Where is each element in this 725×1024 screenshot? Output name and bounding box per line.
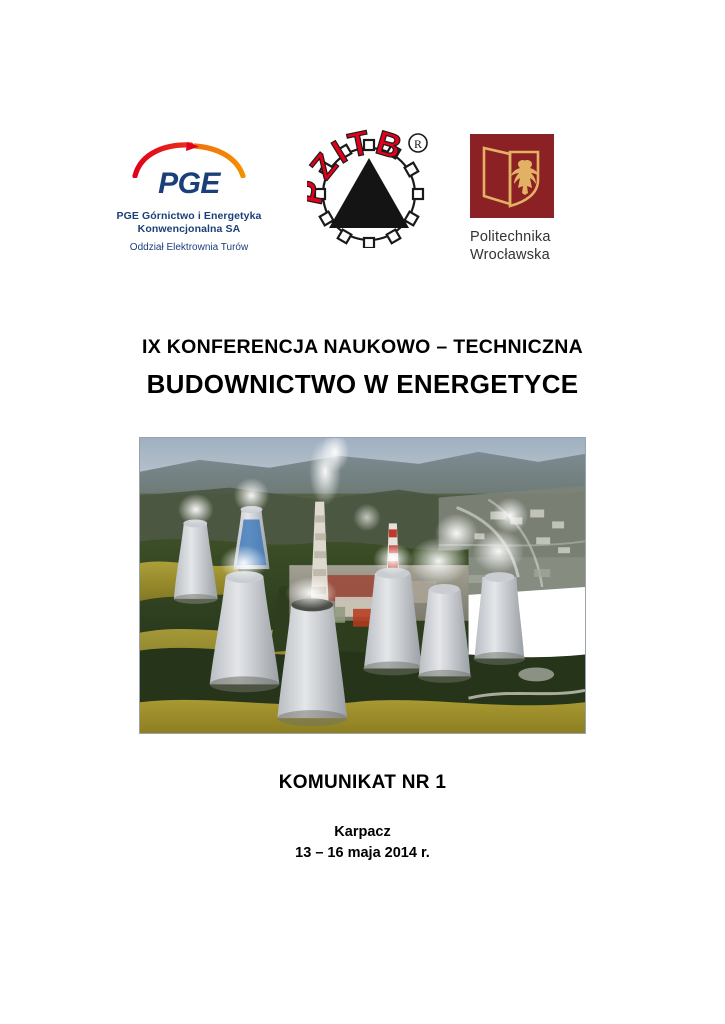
pwr-emblem-icon xyxy=(470,134,554,218)
conference-subtitle: IX KONFERENCJA NAUKOWO – TECHNICZNA xyxy=(0,336,725,359)
pge-caption-line1: PGE Górnictwo i Energetyka xyxy=(96,210,282,223)
logo-politechnika-wroclawska: Politechnika Wrocławska xyxy=(470,134,620,264)
logo-band: PGE PGE Górnictwo i Energetyka Konwencjo… xyxy=(0,128,725,278)
power-plant-photo xyxy=(139,437,586,734)
svg-text:R: R xyxy=(414,137,422,151)
pzitb-emblem-icon: PZITB R xyxy=(307,128,439,248)
pge-mark: PGE xyxy=(129,142,249,204)
pwr-name: Politechnika Wrocławska xyxy=(470,228,620,264)
pwr-name-line2: Wrocławska xyxy=(470,246,620,264)
event-dates: 13 – 16 maja 2014 r. xyxy=(0,843,725,864)
power-plant-photo-image xyxy=(140,438,585,733)
logo-pge: PGE PGE Górnictwo i Energetyka Konwencjo… xyxy=(96,142,282,254)
logo-pzitb: PZITB R xyxy=(307,128,439,248)
pge-caption-line2: Konwencjonalna SA xyxy=(96,223,282,236)
conference-heading: IX KONFERENCJA NAUKOWO – TECHNICZNA BUDO… xyxy=(0,336,725,401)
registered-trademark-icon: R xyxy=(409,134,427,152)
pwr-name-line1: Politechnika xyxy=(470,228,620,246)
bulletin-title: KOMUNIKAT NR 1 xyxy=(0,772,725,794)
event-details: Karpacz 13 – 16 maja 2014 r. xyxy=(0,822,725,864)
event-location: Karpacz xyxy=(0,822,725,843)
pge-caption-line3: Oddział Elektrownia Turów xyxy=(96,242,282,254)
pge-wordmark: PGE xyxy=(129,169,249,199)
conference-title: BUDOWNICTWO W ENERGETYCE xyxy=(0,369,725,400)
